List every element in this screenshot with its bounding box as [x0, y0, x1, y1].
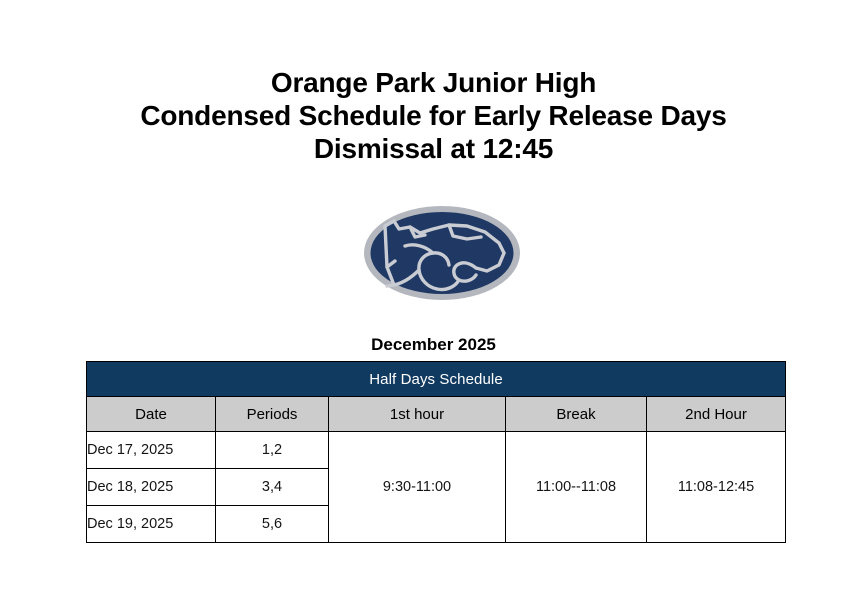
half-days-schedule-table: Half Days Schedule Date Periods 1st hour…	[86, 361, 786, 543]
column-header-periods: Periods	[216, 397, 329, 432]
cell-periods: 5,6	[216, 506, 329, 543]
table-header-row: Date Periods 1st hour Break 2nd Hour	[87, 397, 786, 432]
column-header-date: Date	[87, 397, 216, 432]
cell-first-hour-merged: 9:30-11:00	[329, 432, 506, 543]
cell-periods: 1,2	[216, 432, 329, 469]
cell-date: Dec 19, 2025	[87, 506, 216, 543]
column-header-break: Break	[506, 397, 647, 432]
title-line-schedule: Condensed Schedule for Early Release Day…	[0, 99, 867, 132]
table-row: Dec 17, 2025 1,2 9:30-11:00 11:00--11:08…	[87, 432, 786, 469]
schedule-table-container: Half Days Schedule Date Periods 1st hour…	[86, 361, 785, 543]
cell-break-merged: 11:00--11:08	[506, 432, 647, 543]
column-header-second-hour: 2nd Hour	[647, 397, 786, 432]
month-caption: December 2025	[0, 334, 867, 355]
cell-date: Dec 18, 2025	[87, 469, 216, 506]
cell-date: Dec 17, 2025	[87, 432, 216, 469]
title-line-school: Orange Park Junior High	[0, 66, 867, 99]
table-banner-title: Half Days Schedule	[87, 362, 786, 397]
cell-periods: 3,4	[216, 469, 329, 506]
page-title: Orange Park Junior High Condensed Schedu…	[0, 66, 867, 165]
column-header-first-hour: 1st hour	[329, 397, 506, 432]
cell-second-hour-merged: 11:08-12:45	[647, 432, 786, 543]
table-banner-row: Half Days Schedule	[87, 362, 786, 397]
title-line-dismissal: Dismissal at 12:45	[0, 132, 867, 165]
wildcat-mascot-logo	[363, 205, 521, 301]
schedule-document-page: Orange Park Junior High Condensed Schedu…	[0, 0, 867, 589]
